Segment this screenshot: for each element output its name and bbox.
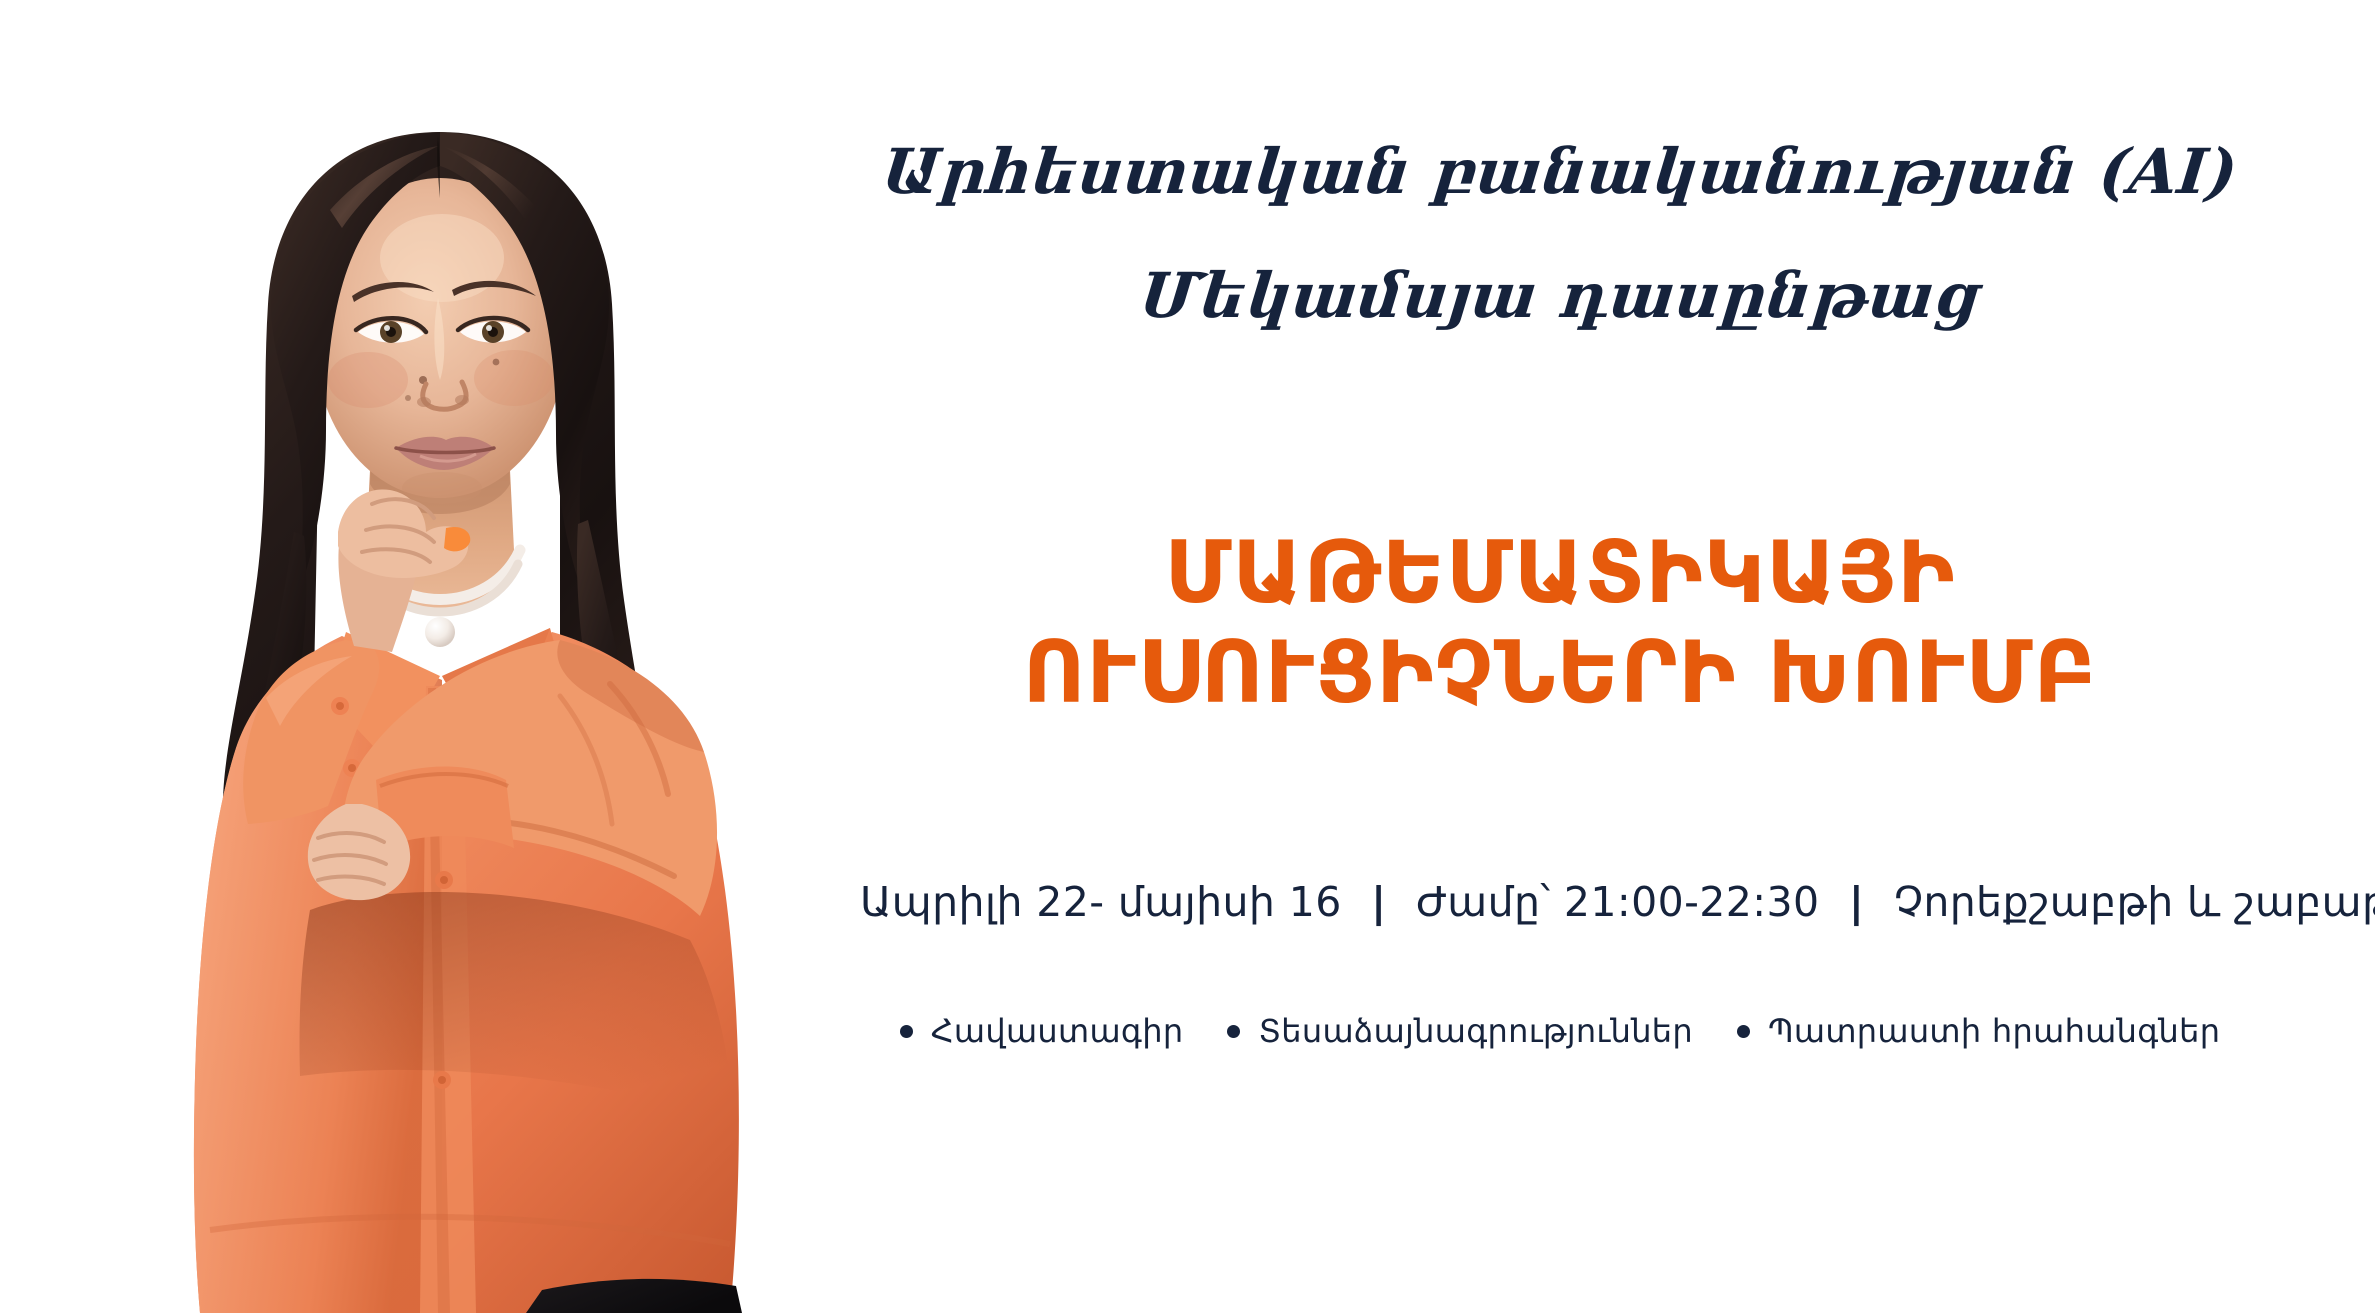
bullet-icon [900, 1025, 913, 1038]
schedule-separator-1: | [1355, 878, 1402, 926]
schedule-line: Ապրիլի 22- մայիսի 16 | Ժամը՝ 21:00-22:30… [860, 878, 2260, 926]
instructor-portrait [90, 80, 790, 1313]
headline-line-1: ՄԱԹԵՄԱՏԻԿԱՅԻ [860, 530, 2260, 616]
feature-label: Պատրաստի հրահանգներ [1768, 1012, 2220, 1050]
feature-label: Հավաստագիր [931, 1012, 1184, 1050]
list-item: Հավաստագիր [900, 1012, 1184, 1050]
headline-line-2: ՈՒՍՈՒՑԻՉՆԵՐԻ ԽՈՒՄԲ [860, 630, 2260, 716]
portrait-photo-area [0, 0, 880, 1313]
bullet-icon [1737, 1025, 1750, 1038]
schedule-separator-2: | [1833, 878, 1880, 926]
subtitle-line-1: Արհեստական բանականության (AI) [856, 138, 2263, 206]
schedule-dates: Ապրիլի 22- մայիսի 16 [860, 878, 1342, 926]
bullet-icon [1227, 1025, 1240, 1038]
list-item: Պատրաստի հրահանգներ [1737, 1012, 2220, 1050]
feature-label: Տեսաձայնագրություններ [1258, 1012, 1693, 1050]
schedule-time: Ժամը՝ 21:00-22:30 [1416, 878, 1820, 926]
features-list: Հավաստագիր Տեսաձայնագրություններ Պատրաստ… [860, 1012, 2260, 1050]
subtitle-line-2: Մեկամսյա դասընթաց [856, 262, 2263, 330]
necklace-pendant-pearl [425, 617, 455, 647]
promo-text-column: Արհեստական բանականության (AI) Մեկամսյա դ… [860, 0, 2260, 1313]
course-promo-banner: Արհեստական բանականության (AI) Մեկամսյա դ… [0, 0, 2375, 1313]
schedule-days: Չորեքշաբթի և շաբաթ [1894, 878, 2375, 926]
list-item: Տեսաձայնագրություններ [1227, 1012, 1693, 1050]
